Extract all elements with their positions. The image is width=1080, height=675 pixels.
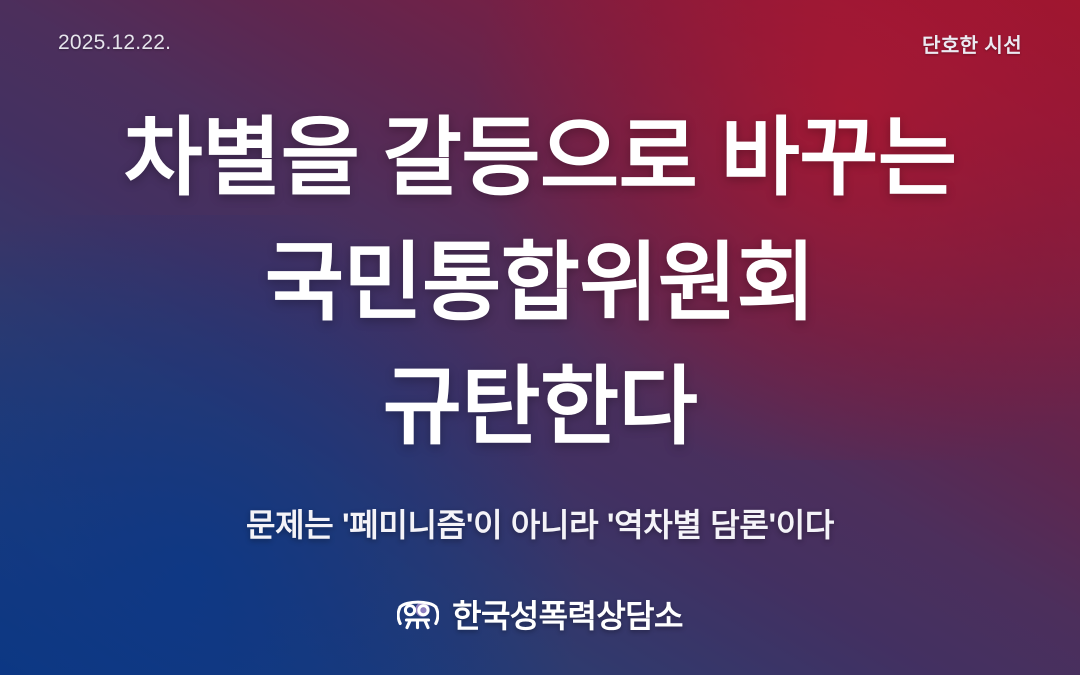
card-meta-row: 2025.12.22. 단호한 시선 bbox=[0, 26, 1080, 60]
subtitle: 문제는 '페미니즘'이 아니라 '역차별 담론'이다 bbox=[0, 500, 1080, 546]
organization-name: 한국성폭력상담소 bbox=[452, 591, 683, 637]
statement-card: 2025.12.22. 단호한 시선 차별을 갈등으로 바꾸는 국민통합위원회 … bbox=[0, 0, 1080, 675]
publish-date: 2025.12.22. bbox=[58, 31, 171, 55]
kscrc-face-mark-icon bbox=[397, 598, 439, 630]
headline: 차별을 갈등으로 바꾸는 국민통합위원회 규탄한다 bbox=[0, 96, 1080, 470]
headline-line-2: 국민통합위원회 bbox=[40, 221, 1040, 346]
headline-line-3: 규탄한다 bbox=[40, 345, 1040, 470]
series-tag: 단호한 시선 bbox=[922, 29, 1022, 58]
organization-logo-lockup: 한국성폭력상담소 bbox=[0, 591, 1080, 637]
headline-line-1: 차별을 갈등으로 바꾸는 bbox=[40, 96, 1040, 221]
